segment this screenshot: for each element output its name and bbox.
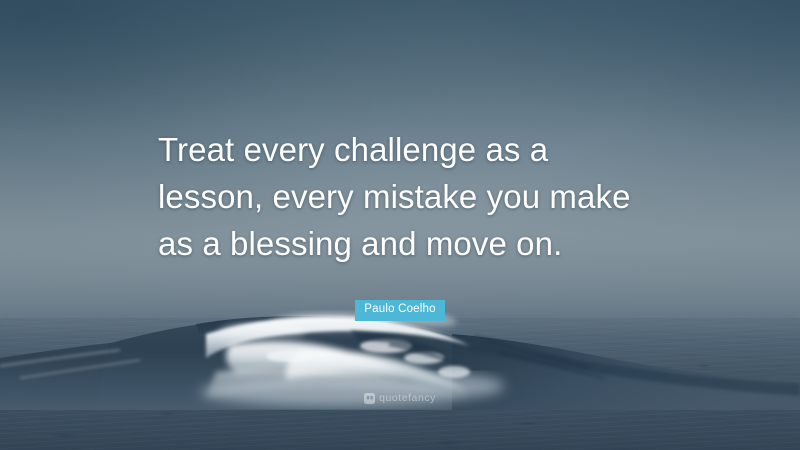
quote-mark-icon [364, 393, 375, 404]
author-name-badge: Paulo Coelho [355, 300, 444, 321]
quote-text: Treat every challenge as a lesson, every… [158, 126, 678, 267]
quote-line-1: Treat every challenge as a [158, 126, 678, 173]
author-attribution: Paulo Coelho [0, 300, 800, 321]
quote-poster: Treat every challenge as a lesson, every… [0, 0, 800, 450]
watermark: quotefancy [0, 392, 800, 404]
quote-line-2: lesson, every mistake you make [158, 173, 678, 220]
quote-line-3: as a blessing and move on. [158, 220, 678, 267]
watermark-label: quotefancy [379, 392, 436, 404]
